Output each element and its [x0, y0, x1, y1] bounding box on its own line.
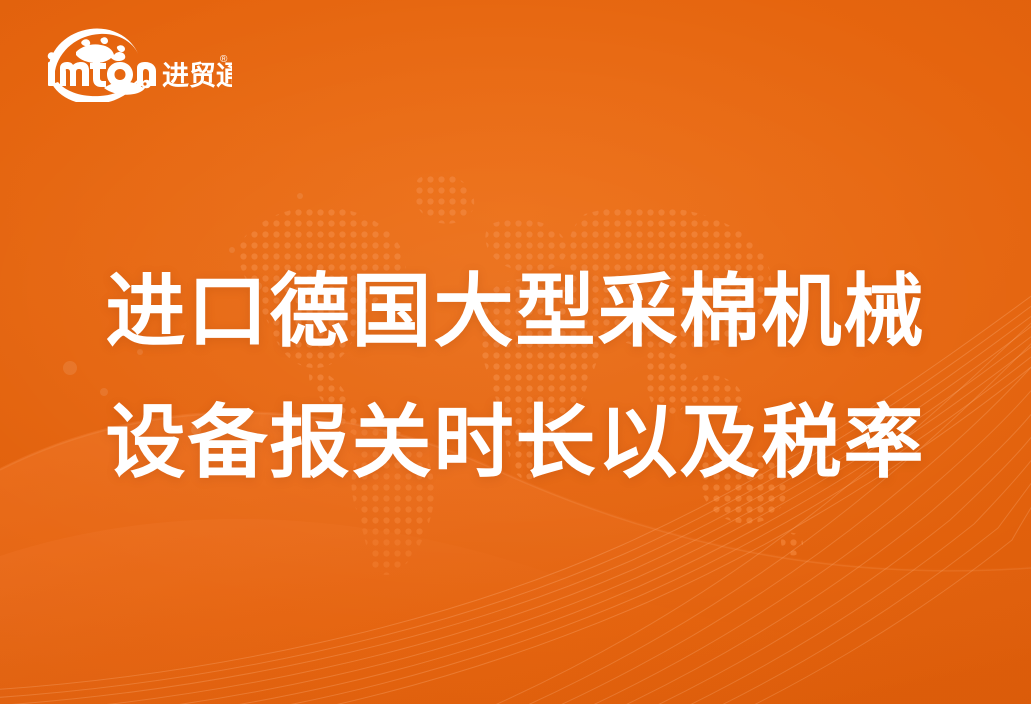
logo-trademark-symbol: ® — [220, 54, 228, 65]
promo-banner: 进贸通 ® 进口德国大型采棉机械 设备报关时长以及税率 — [0, 0, 1031, 704]
headline-line-1: 进口德国大型采棉机械 — [0, 246, 1031, 377]
fish-swoosh-icon — [52, 76, 151, 102]
headline-line-2: 设备报关时长以及税率 — [0, 377, 1031, 508]
imton-logo[interactable]: 进贸通 ® — [42, 26, 232, 102]
logo-chinese-name: 进贸通 — [162, 61, 232, 91]
page-title: 进口德国大型采棉机械 设备报关时长以及税率 — [0, 246, 1031, 508]
